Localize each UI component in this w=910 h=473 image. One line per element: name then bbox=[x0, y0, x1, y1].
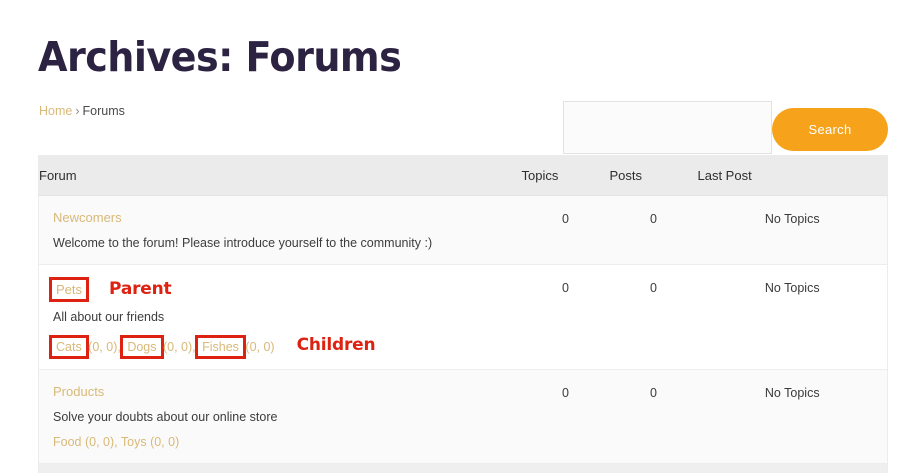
forum-title-line: Newcomers bbox=[53, 210, 508, 225]
topics-count: 0 bbox=[522, 265, 610, 370]
annotation-box-parent: Pets bbox=[53, 281, 85, 298]
subforum-count-food: (0, 0) bbox=[82, 435, 115, 449]
subforum-count-fishes: (0, 0) bbox=[242, 340, 275, 354]
subforum-link-dogs[interactable]: Dogs bbox=[127, 340, 156, 354]
column-header-forum: Forum bbox=[39, 156, 522, 196]
column-header-topics: Topics bbox=[522, 156, 610, 196]
forum-description: All about our friends bbox=[53, 310, 508, 324]
topics-count: 0 bbox=[522, 196, 610, 265]
forum-title-line: Pets Parent bbox=[53, 279, 508, 299]
forum-link-pets[interactable]: Pets bbox=[56, 282, 82, 297]
last-post-status: No Topics bbox=[698, 370, 888, 464]
forum-description: Solve your doubts about our online store bbox=[53, 410, 508, 424]
subforum-link-toys[interactable]: Toys bbox=[121, 435, 147, 449]
subforum-count-toys: (0, 0) bbox=[147, 435, 180, 449]
subforum-count-cats: (0, 0) bbox=[85, 340, 118, 354]
last-post-status: No Topics bbox=[698, 265, 888, 370]
annotation-box-child-dogs: Dogs bbox=[124, 339, 159, 355]
search-input[interactable] bbox=[563, 101, 772, 154]
subforum-separator: , bbox=[117, 340, 124, 354]
forum-link-newcomers[interactable]: Newcomers bbox=[53, 210, 122, 225]
subforum-list: Cats (0, 0), Dogs (0, 0), Fishes (0, 0)C… bbox=[53, 335, 508, 355]
topics-count: 0 bbox=[522, 370, 610, 464]
subforum-count-dogs: (0, 0) bbox=[160, 340, 193, 354]
subforum-list: Food (0, 0), Toys (0, 0) bbox=[53, 435, 508, 449]
subforum-separator: , bbox=[192, 340, 199, 354]
annotation-label-children: Children bbox=[297, 335, 376, 355]
column-header-posts: Posts bbox=[610, 156, 698, 196]
subforum-link-fishes[interactable]: Fishes bbox=[202, 340, 239, 354]
breadcrumb-current: Forums bbox=[83, 104, 125, 118]
subforum-link-cats[interactable]: Cats bbox=[56, 340, 82, 354]
forum-link-products[interactable]: Products bbox=[53, 384, 104, 399]
forum-cell: Pets Parent All about our friends Cats (… bbox=[39, 265, 522, 370]
table-row: Pets Parent All about our friends Cats (… bbox=[39, 265, 888, 370]
annotation-label-parent: Parent bbox=[109, 279, 171, 299]
annotation-box-child-fishes: Fishes bbox=[199, 339, 242, 355]
page-title: Archives: Forums bbox=[38, 33, 401, 81]
breadcrumb-home-link[interactable]: Home bbox=[39, 104, 72, 118]
table-body: Newcomers Welcome to the forum! Please i… bbox=[39, 196, 888, 473]
forum-description: Welcome to the forum! Please introduce y… bbox=[53, 236, 508, 250]
table-row: Products Solve your doubts about our onl… bbox=[39, 370, 888, 464]
annotation-box-child-cats: Cats bbox=[53, 339, 85, 355]
forum-table: Forum Topics Posts Last Post Newcomers W… bbox=[38, 155, 888, 473]
table-header-row: Forum Topics Posts Last Post bbox=[39, 156, 888, 196]
table-footer-row bbox=[39, 464, 888, 473]
table-row: Newcomers Welcome to the forum! Please i… bbox=[39, 196, 888, 265]
search-button[interactable]: Search bbox=[772, 108, 888, 151]
last-post-status: No Topics bbox=[698, 196, 888, 265]
forum-title-line: Products bbox=[53, 384, 508, 399]
forum-cell: Newcomers Welcome to the forum! Please i… bbox=[39, 196, 522, 265]
posts-count: 0 bbox=[610, 196, 698, 265]
breadcrumb-separator: › bbox=[75, 104, 79, 118]
subforum-separator: , bbox=[114, 435, 121, 449]
forum-cell: Products Solve your doubts about our onl… bbox=[39, 370, 522, 464]
forum-archive-page: Archives: Forums Home›Forums Search Foru… bbox=[0, 0, 910, 473]
table-footer-bar bbox=[39, 464, 888, 473]
search-area: Search bbox=[563, 101, 888, 154]
breadcrumb: Home›Forums bbox=[39, 104, 125, 118]
posts-count: 0 bbox=[610, 370, 698, 464]
subforum-link-food[interactable]: Food bbox=[53, 435, 82, 449]
posts-count: 0 bbox=[610, 265, 698, 370]
column-header-last-post: Last Post bbox=[698, 156, 888, 196]
